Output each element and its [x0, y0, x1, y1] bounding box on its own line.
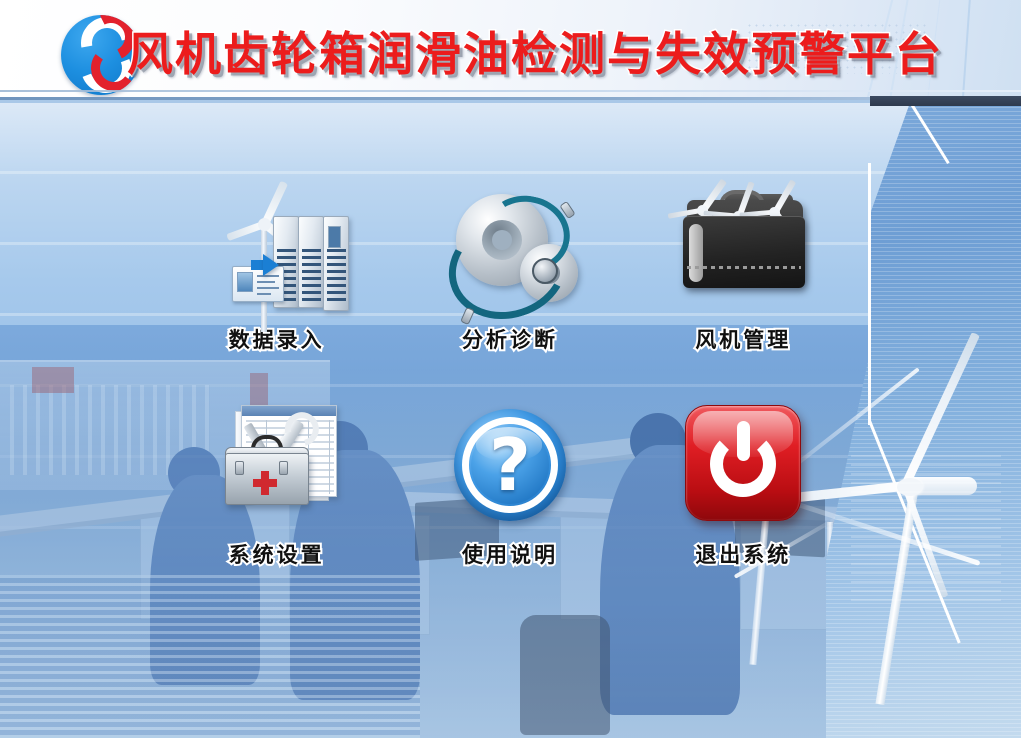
stethoscope-chestpiece	[532, 258, 558, 284]
power-button-icon[interactable]	[673, 395, 813, 535]
header-rule-light	[0, 90, 1021, 92]
folder-stitching	[687, 266, 801, 269]
menu-label-settings: 系统设置	[229, 539, 325, 569]
server-display-panel	[328, 226, 341, 248]
page-title: 风机齿轮箱润滑油检测与失效预警平台	[205, 22, 865, 80]
toolbox-latch-right	[279, 461, 288, 475]
menu-label-help: 使用说明	[462, 539, 558, 569]
red-cross-horizontal	[253, 479, 277, 487]
stethoscope-earpiece-1	[460, 307, 475, 325]
server-vents-2	[302, 249, 321, 301]
menu-item-analysis[interactable]: 分析诊断	[393, 180, 626, 395]
toolbox-tools-icon[interactable]	[207, 395, 347, 535]
record-card-line-4	[257, 293, 271, 295]
menu-label-analysis: 分析诊断	[462, 324, 558, 354]
import-arrow-head	[263, 254, 279, 276]
menu-label-exit: 退出系统	[695, 539, 791, 569]
server-vents-3	[327, 249, 346, 301]
folder-turbines-icon[interactable]	[673, 180, 813, 320]
menu-item-help[interactable]: ? 使用说明	[393, 395, 626, 610]
wind-turbine-server-icon[interactable]	[207, 180, 347, 320]
question-mark-icon[interactable]: ?	[440, 395, 580, 535]
folder-clasp	[689, 224, 703, 282]
gears-stethoscope-icon[interactable]	[440, 180, 580, 320]
application-window: 风机齿轮箱润滑油检测与失效预警平台	[0, 0, 1021, 738]
menu-label-turbine-management: 风机管理	[695, 324, 791, 354]
menu-item-settings[interactable]: 系统设置	[160, 395, 393, 610]
menu-item-exit[interactable]: 退出系统	[627, 395, 860, 610]
data-entry-turbine-hub	[258, 218, 271, 231]
record-card-photo	[237, 272, 253, 292]
main-menu-grid: 数据录入 分析诊断	[160, 180, 860, 610]
help-question-glyph: ?	[471, 417, 549, 513]
menu-item-data-entry[interactable]: 数据录入	[160, 180, 393, 395]
app-header: 风机齿轮箱润滑油检测与失效预警平台	[0, 0, 1021, 100]
record-card-line-3	[257, 287, 279, 289]
settings-sheet-header	[242, 406, 336, 416]
record-card-line-2	[257, 281, 275, 283]
toolbox-latch-left	[235, 461, 244, 475]
server-rack-2	[298, 216, 324, 308]
power-symbol-bar	[737, 421, 750, 461]
header-dark-accent-bar	[870, 96, 1021, 106]
header-rule-dark	[0, 97, 1021, 100]
menu-item-turbine-management[interactable]: 风机管理	[627, 180, 860, 395]
menu-label-data-entry: 数据录入	[229, 324, 325, 354]
